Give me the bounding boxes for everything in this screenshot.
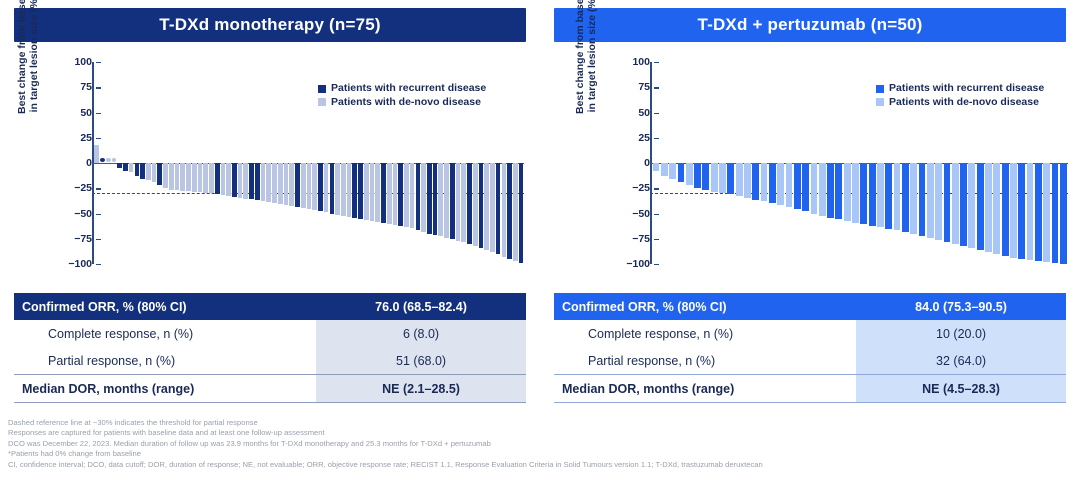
waterfall-bar — [786, 163, 793, 207]
y-tick-75: 75 — [610, 81, 654, 93]
complete-response-value: 10 (20.0) — [856, 320, 1066, 347]
waterfall-bar — [802, 163, 809, 211]
waterfall-bar — [919, 163, 926, 236]
y-tick-100: 100 — [52, 56, 96, 68]
y-tick-25: 25 — [610, 132, 654, 144]
waterfall-bar — [289, 163, 294, 206]
bar-slot — [694, 62, 702, 264]
waterfall-bar — [186, 163, 191, 191]
waterfall-bar — [502, 163, 507, 257]
waterfall-bar — [752, 163, 759, 200]
waterfall-bar — [163, 163, 168, 188]
legend-combo: Patients with recurrent diseasePatients … — [876, 82, 1044, 109]
partial-response-value: 51 (68.0) — [316, 347, 526, 375]
bar-slot — [710, 62, 718, 264]
waterfall-bar — [146, 163, 151, 180]
waterfall-bar — [324, 163, 329, 212]
bar-slot — [652, 62, 660, 264]
waterfall-bar — [844, 163, 851, 221]
y-tick-neg50: −50 — [52, 208, 96, 220]
y-tick-neg100: −100 — [610, 258, 654, 270]
waterfall-bar — [811, 163, 818, 214]
waterfall-bar — [180, 163, 185, 191]
bar-slot — [793, 62, 801, 264]
waterfall-bar — [209, 163, 214, 193]
waterfall-bar — [140, 163, 145, 179]
waterfall-bar — [330, 163, 335, 214]
y-tick-neg50: −50 — [610, 208, 654, 220]
waterfall-bar — [910, 163, 917, 234]
waterfall-bar — [669, 163, 676, 179]
waterfall-bar — [387, 163, 392, 224]
waterfall-bar — [835, 163, 842, 219]
results-table-mono: Confirmed ORR, % (80% CI) 76.0 (68.5–82.… — [14, 293, 526, 403]
waterfall-bar — [444, 163, 449, 238]
panel-mono: T-DXd monotherapy (n=75) Best change fro… — [0, 0, 540, 403]
waterfall-bar — [736, 163, 743, 196]
y-axis-label-line1: Best change from baseline — [16, 0, 28, 114]
bar-slot — [660, 62, 668, 264]
waterfall-bar — [490, 163, 495, 252]
waterfall-bar — [295, 163, 300, 207]
waterfall-bar — [238, 163, 243, 198]
legend-item: Patients with de-novo disease — [876, 96, 1044, 110]
legend-swatch-icon — [876, 98, 884, 106]
partial-response-label: Partial response, n (%) — [14, 347, 316, 375]
bar-slot — [1051, 62, 1059, 264]
waterfall-bar — [307, 163, 312, 209]
waterfall-bar — [117, 163, 122, 168]
waterfall-bar — [284, 163, 289, 205]
chart-combo: Best change from baseline in target lesi… — [540, 54, 1080, 279]
waterfall-bar — [393, 163, 398, 225]
partial-response-value: 32 (64.0) — [856, 347, 1066, 375]
waterfall-bar — [249, 163, 254, 199]
waterfall-bar — [661, 163, 668, 176]
y-axis-label-line2: in target lesion size (%) — [586, 0, 598, 114]
waterfall-bar — [702, 163, 709, 190]
waterfall-bar — [421, 163, 426, 232]
waterfall-bar — [438, 163, 443, 236]
complete-response-label: Complete response, n (%) — [554, 320, 856, 347]
waterfall-bar — [1002, 163, 1009, 256]
results-table-wrap-mono: Confirmed ORR, % (80% CI) 76.0 (68.5–82.… — [14, 293, 526, 403]
waterfall-bar — [358, 163, 363, 219]
legend-item: Patients with recurrent disease — [876, 82, 1044, 96]
y-axis-label-line1: Best change from baseline — [574, 0, 586, 114]
waterfall-bar — [496, 163, 501, 254]
y-tick-25: 25 — [52, 132, 96, 144]
waterfall-bar — [479, 163, 484, 248]
footnote-line: CI, confidence interval; DCO, data cutof… — [8, 460, 1072, 470]
bar-slot — [760, 62, 768, 264]
chart-mono: Best change from baseline in target lesi… — [0, 54, 540, 279]
waterfall-bar — [869, 163, 876, 226]
zero-change-marker — [112, 158, 117, 162]
waterfall-bar — [226, 163, 231, 196]
waterfall-bar — [318, 163, 323, 211]
waterfall-bar — [860, 163, 867, 224]
bar-slot — [677, 62, 685, 264]
waterfall-bar — [243, 163, 248, 199]
waterfall-panels: T-DXd monotherapy (n=75) Best change fro… — [0, 0, 1080, 403]
waterfall-bar — [952, 163, 959, 244]
median-dor-value: NE (4.5–28.3) — [856, 375, 1066, 403]
results-table-combo: Confirmed ORR, % (80% CI) 84.0 (75.3–90.… — [554, 293, 1066, 403]
y-tick-100: 100 — [610, 56, 654, 68]
y-tick-50: 50 — [610, 107, 654, 119]
waterfall-bar — [761, 163, 768, 201]
waterfall-bar — [902, 163, 909, 232]
legend-label: Patients with de-novo disease — [889, 96, 1039, 110]
waterfall-bar — [347, 163, 352, 217]
footnote-line: DCO was December 22, 2023. Median durati… — [8, 439, 1072, 449]
footnote-line: Responses are captured for patients with… — [8, 428, 1072, 438]
waterfall-bar — [221, 163, 226, 195]
y-tick-neg75: −75 — [52, 233, 96, 245]
orr-label: Confirmed ORR, % (80% CI) — [554, 293, 856, 320]
footnote-line: Dashed reference line at −30% indicates … — [8, 418, 1072, 428]
y-axis-label-combo: Best change from baseline in target lesi… — [574, 0, 598, 114]
waterfall-bar — [519, 163, 524, 263]
table-row-median-dor: Median DOR, months (range) NE (4.5–28.3) — [554, 375, 1066, 403]
waterfall-bar — [335, 163, 340, 215]
waterfall-bar — [169, 163, 174, 190]
bar-slot — [777, 62, 785, 264]
waterfall-bar — [473, 163, 478, 246]
waterfall-bar — [1035, 163, 1042, 261]
bar-slot — [727, 62, 735, 264]
bar-slot — [702, 62, 710, 264]
waterfall-bar — [1010, 163, 1017, 258]
waterfall-bar — [341, 163, 346, 216]
bar-slot — [518, 62, 524, 264]
legend-mono: Patients with recurrent diseasePatients … — [318, 82, 486, 109]
waterfall-bar — [370, 163, 375, 221]
y-axis-label-mono: Best change from baseline in target lesi… — [16, 0, 40, 114]
legend-swatch-icon — [318, 98, 326, 106]
legend-swatch-icon — [318, 85, 326, 93]
waterfall-bar — [352, 163, 357, 218]
waterfall-bar — [769, 163, 776, 203]
waterfall-bar — [467, 163, 472, 244]
waterfall-bar — [312, 163, 317, 210]
bar-slot — [1059, 62, 1067, 264]
waterfall-bar — [1060, 163, 1067, 264]
panel-title-combo: T-DXd + pertuzumab (n=50) — [554, 8, 1066, 42]
footnotes: Dashed reference line at −30% indicates … — [8, 418, 1072, 470]
tick-mark — [654, 264, 659, 265]
zero-change-marker — [106, 158, 111, 162]
legend-label: Patients with de-novo disease — [331, 96, 481, 110]
waterfall-bar — [686, 163, 693, 185]
waterfall-bar — [819, 163, 826, 216]
waterfall-bar — [653, 163, 660, 171]
waterfall-bar — [301, 163, 306, 208]
bar-slot — [843, 62, 851, 264]
waterfall-bar — [894, 163, 901, 230]
y-tick-0: 0 — [52, 157, 96, 169]
waterfall-bar — [266, 163, 271, 202]
legend-swatch-icon — [876, 85, 884, 93]
bar-slot — [827, 62, 835, 264]
waterfall-bar — [157, 163, 162, 185]
complete-response-label: Complete response, n (%) — [14, 320, 316, 347]
table-row-partial-response: Partial response, n (%) 32 (64.0) — [554, 347, 1066, 375]
waterfall-bar — [711, 163, 718, 192]
waterfall-bar — [507, 163, 512, 259]
waterfall-bar — [885, 163, 892, 229]
legend-item: Patients with recurrent disease — [318, 82, 486, 96]
panel-title-mono: T-DXd monotherapy (n=75) — [14, 8, 526, 42]
orr-label: Confirmed ORR, % (80% CI) — [14, 293, 316, 320]
orr-value: 84.0 (75.3–90.5) — [856, 293, 1066, 320]
waterfall-bar — [985, 163, 992, 252]
waterfall-bar — [450, 163, 455, 239]
waterfall-bar — [410, 163, 415, 228]
waterfall-bar — [944, 163, 951, 242]
waterfall-bar — [852, 163, 859, 223]
y-tick-50: 50 — [52, 107, 96, 119]
waterfall-bar — [927, 163, 934, 238]
waterfall-bar — [398, 163, 403, 226]
waterfall-bar — [513, 163, 518, 261]
y-tick-0: 0 — [610, 157, 654, 169]
results-table-wrap-combo: Confirmed ORR, % (80% CI) 84.0 (75.3–90.… — [554, 293, 1066, 403]
waterfall-bar — [678, 163, 685, 182]
waterfall-bar — [427, 163, 432, 234]
bar-slot — [719, 62, 727, 264]
waterfall-bar — [777, 163, 784, 205]
waterfall-bar — [381, 163, 386, 223]
median-dor-label: Median DOR, months (range) — [14, 375, 316, 403]
waterfall-bar — [404, 163, 409, 227]
waterfall-bar — [1018, 163, 1025, 259]
bar-slot — [768, 62, 776, 264]
bar-slot — [818, 62, 826, 264]
waterfall-bar — [1043, 163, 1050, 262]
bar-slot — [802, 62, 810, 264]
zero-change-marker — [100, 158, 105, 162]
table-row-complete-response: Complete response, n (%) 6 (8.0) — [14, 320, 526, 347]
waterfall-bar — [935, 163, 942, 240]
bar-slot — [669, 62, 677, 264]
waterfall-bar — [827, 163, 834, 218]
complete-response-value: 6 (8.0) — [316, 320, 526, 347]
legend-label: Patients with recurrent disease — [889, 82, 1044, 96]
waterfall-bar — [129, 163, 134, 172]
bar-slot — [735, 62, 743, 264]
waterfall-bar — [152, 163, 157, 182]
y-axis-label-line2: in target lesion size (%) — [28, 0, 40, 114]
legend-item: Patients with de-novo disease — [318, 96, 486, 110]
waterfall-bar — [278, 163, 283, 204]
waterfall-bar — [794, 163, 801, 209]
waterfall-bar — [416, 163, 421, 230]
waterfall-bar — [877, 163, 884, 227]
bar-slot — [743, 62, 751, 264]
median-dor-value: NE (2.1–28.5) — [316, 375, 526, 403]
waterfall-bar — [744, 163, 751, 198]
waterfall-bar — [719, 163, 726, 193]
waterfall-bar — [456, 163, 461, 241]
bar-slot — [835, 62, 843, 264]
table-row-complete-response: Complete response, n (%) 10 (20.0) — [554, 320, 1066, 347]
waterfall-bar — [993, 163, 1000, 254]
waterfall-bar — [215, 163, 220, 194]
waterfall-bar — [1052, 163, 1059, 263]
table-row-median-dor: Median DOR, months (range) NE (2.1–28.5) — [14, 375, 526, 403]
waterfall-bar — [968, 163, 975, 248]
y-tick-neg25: −25 — [52, 182, 96, 194]
waterfall-bar — [94, 145, 99, 163]
table-row-orr: Confirmed ORR, % (80% CI) 84.0 (75.3–90.… — [554, 293, 1066, 320]
bar-slot — [785, 62, 793, 264]
y-tick-75: 75 — [52, 81, 96, 93]
bar-slot — [752, 62, 760, 264]
waterfall-bar — [203, 163, 208, 193]
panel-combo: T-DXd + pertuzumab (n=50) Best change fr… — [540, 0, 1080, 403]
orr-value: 76.0 (68.5–82.4) — [316, 293, 526, 320]
waterfall-bar — [255, 163, 260, 200]
waterfall-bar — [727, 163, 734, 194]
waterfall-bar — [375, 163, 380, 222]
waterfall-bar — [364, 163, 369, 220]
bar-slot — [860, 62, 868, 264]
y-tick-neg75: −75 — [610, 233, 654, 245]
footnote-line: *Patients had 0% change from baseline — [8, 449, 1072, 459]
y-tick-neg25: −25 — [610, 182, 654, 194]
legend-label: Patients with recurrent disease — [331, 82, 486, 96]
waterfall-bar — [977, 163, 984, 250]
waterfall-bar — [123, 163, 128, 171]
bar-slot — [810, 62, 818, 264]
waterfall-bar — [192, 163, 197, 192]
partial-response-label: Partial response, n (%) — [554, 347, 856, 375]
waterfall-bar — [272, 163, 277, 203]
waterfall-bar — [261, 163, 266, 201]
table-row-partial-response: Partial response, n (%) 51 (68.0) — [14, 347, 526, 375]
waterfall-bar — [461, 163, 466, 242]
waterfall-bar — [175, 163, 180, 190]
waterfall-bar — [1027, 163, 1034, 260]
waterfall-bar — [694, 163, 701, 188]
bar-slot — [852, 62, 860, 264]
waterfall-bar — [960, 163, 967, 246]
bar-slot — [685, 62, 693, 264]
waterfall-bar — [484, 163, 489, 250]
table-row-orr: Confirmed ORR, % (80% CI) 76.0 (68.5–82.… — [14, 293, 526, 320]
waterfall-bar — [232, 163, 237, 197]
waterfall-bar — [198, 163, 203, 192]
tick-mark — [96, 264, 101, 265]
waterfall-bar — [433, 163, 438, 235]
waterfall-bar — [135, 163, 140, 176]
y-tick-neg100: −100 — [52, 258, 96, 270]
median-dor-label: Median DOR, months (range) — [554, 375, 856, 403]
